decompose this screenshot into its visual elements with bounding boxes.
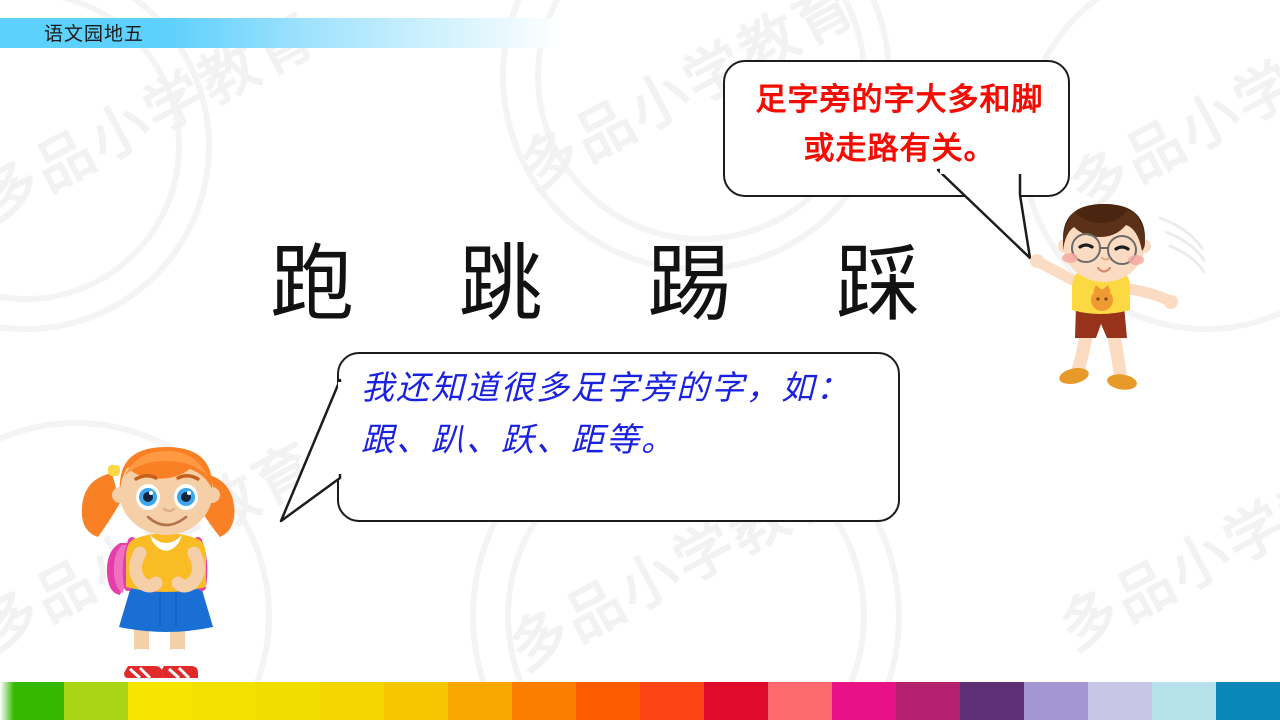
girl-student-illustration <box>72 415 262 695</box>
boy-student-illustration <box>1010 196 1210 396</box>
slide-canvas: 多品小学教育 多品小学教育 多品小学教育 多品小学教育 多品小学教育 多品小学教… <box>0 0 1280 720</box>
